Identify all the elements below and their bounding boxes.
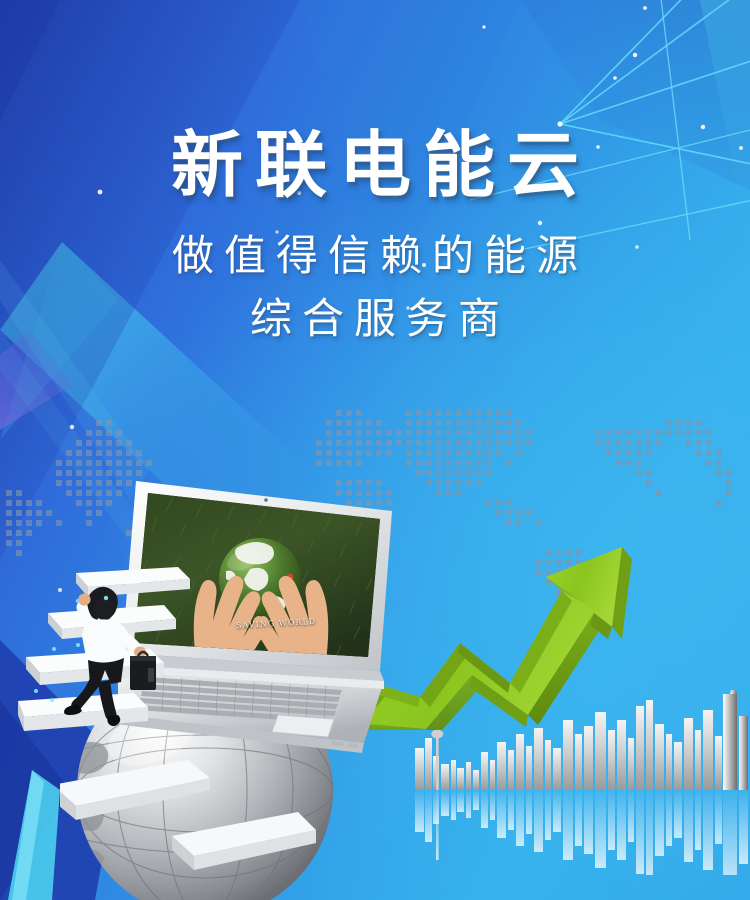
page-title: 新联电能云 (0, 128, 750, 204)
subtitle-line-1: 做值得信赖的能源 (0, 226, 750, 286)
subtitle-line-2: 综合服务商 (0, 289, 750, 349)
promotional-poster: SAVING WORLD (0, 0, 750, 900)
headline-block: 新联电能云 做值得信赖的能源 综合服务商 (0, 128, 750, 349)
